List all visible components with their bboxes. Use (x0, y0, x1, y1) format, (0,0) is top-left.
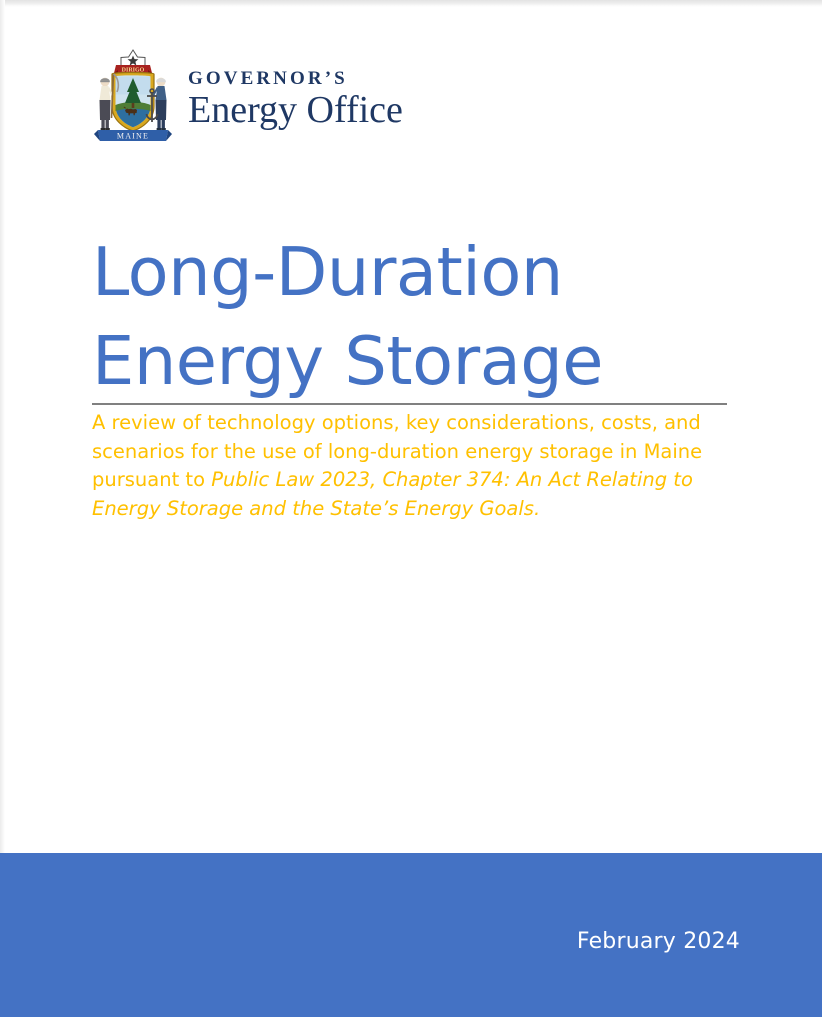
logo-wordmark: GOVERNOR’S Energy Office (188, 63, 403, 131)
page-title: Long-Duration Energy Storage (92, 228, 732, 406)
governors-energy-office-logo: DIRIGO (92, 48, 403, 146)
document-cover-page: DIRIGO (0, 0, 822, 1017)
footer-band: February 2024 (0, 853, 822, 1017)
title-divider (92, 403, 727, 405)
logo-energy-office-text: Energy Office (188, 90, 403, 131)
publication-date: February 2024 (577, 929, 740, 954)
maine-state-seal-icon: DIRIGO (92, 48, 174, 146)
page-edge-shadow-top (0, 0, 822, 7)
logo-governors-text: GOVERNOR’S (188, 69, 403, 89)
svg-text:MAINE: MAINE (117, 132, 149, 141)
page-title-line-2: Energy Storage (92, 317, 732, 406)
page-title-line-1: Long-Duration (92, 228, 732, 317)
page-subtitle: A review of technology options, key cons… (92, 409, 717, 523)
